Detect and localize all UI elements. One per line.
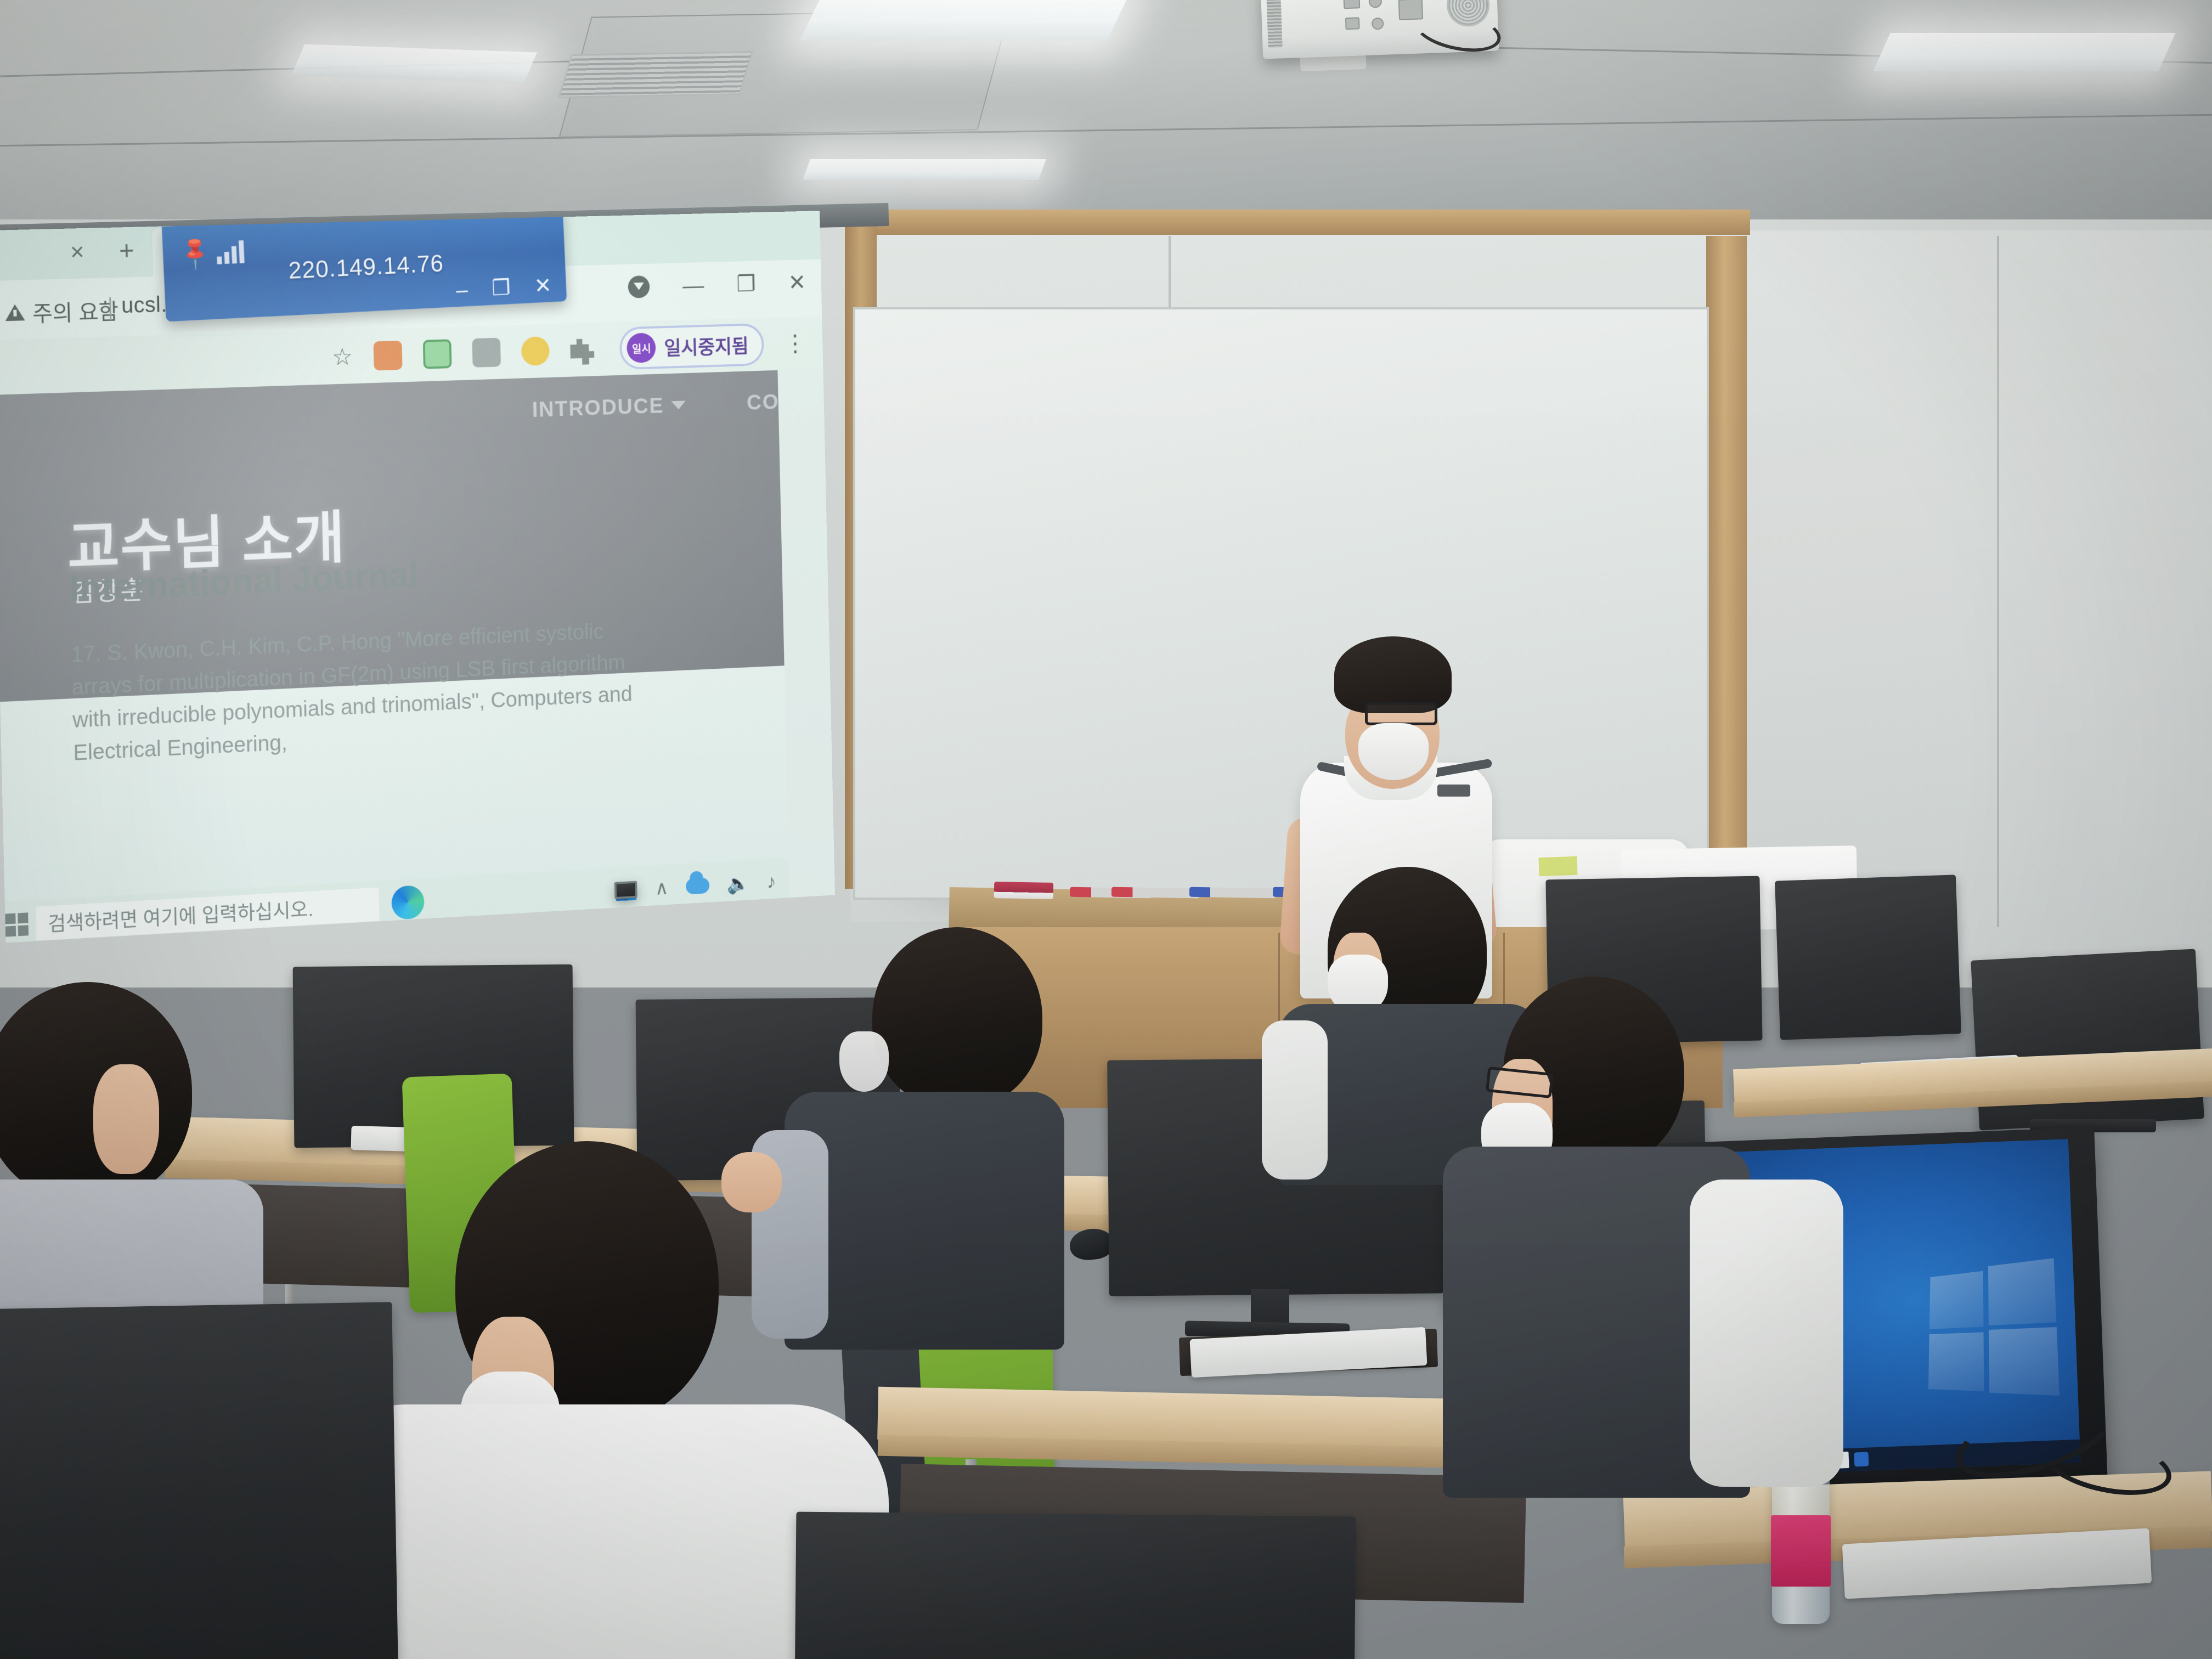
wall-seam — [1997, 236, 1999, 927]
student-head — [872, 927, 1042, 1108]
face-mask — [839, 1031, 889, 1092]
glasses-icon — [1365, 702, 1437, 725]
paused-status-badge[interactable]: 일시 일시중지됨 — [619, 323, 764, 370]
whiteboard — [853, 307, 1709, 900]
wood-trim — [845, 210, 1750, 235]
puzzle-extension-icon[interactable] — [570, 334, 600, 365]
show-hidden-icons-chevron[interactable]: ∧ — [655, 877, 669, 900]
projector-port — [1345, 17, 1360, 30]
new-tab-icon[interactable]: + — [119, 239, 135, 263]
network-monitor-icon[interactable] — [614, 881, 637, 899]
onedrive-cloud-icon[interactable] — [686, 877, 709, 894]
windows-logo-icon[interactable] — [5, 912, 29, 936]
projection-screen: INTRODUCE COURSE 교수님 소개 김창훈 Internationa… — [0, 211, 835, 943]
input-method-icon[interactable]: ♪ — [766, 871, 776, 893]
security-warning-label: 주의 요함 — [32, 294, 119, 328]
ceiling-light — [803, 159, 1046, 180]
browser-menu-icon[interactable]: ⋮ — [784, 330, 806, 357]
red-marker — [1111, 887, 1199, 899]
edge-browser-icon[interactable] — [1854, 1452, 1869, 1467]
warning-triangle-icon — [5, 304, 25, 321]
monitor-foreground-left — [0, 1302, 398, 1659]
windows-logo-wallpaper-icon — [1928, 1262, 2059, 1399]
remote-desktop-window-controls: – ❐ ✕ — [455, 273, 552, 303]
window-controls: — ❐ ✕ — [628, 269, 806, 300]
paused-status-label: 일시중지됨 — [664, 331, 749, 361]
nav-item-course[interactable]: COURSE — [747, 387, 789, 415]
ceiling-projector — [1261, 0, 1499, 59]
nav-item-label: INTRODUCE — [532, 394, 664, 422]
rdp-minimize-button[interactable]: – — [455, 278, 468, 302]
green-extension-icon[interactable] — [423, 339, 452, 369]
student-face — [93, 1064, 159, 1174]
monitor-foreground — [795, 1512, 1356, 1659]
volume-icon[interactable]: 🔈 — [726, 872, 750, 895]
grey-extension-icon[interactable] — [472, 338, 501, 368]
polo-logo — [1437, 785, 1470, 797]
projector-port — [1372, 18, 1384, 30]
projector-port — [1368, 0, 1382, 8]
projector-cable — [1410, 3, 1504, 59]
chevron-down-icon — [671, 400, 685, 409]
downloads-icon[interactable] — [628, 275, 650, 298]
face-mask — [1358, 723, 1429, 780]
presenter-hair — [1334, 636, 1452, 713]
ceiling-light — [1873, 33, 2175, 71]
ceiling-light — [800, 0, 1132, 41]
system-tray: 👥 ∧ 🔈 ♪ — [614, 870, 789, 902]
close-button[interactable]: ✕ — [788, 269, 806, 296]
student-shirt — [1262, 1020, 1328, 1180]
security-warning-badge[interactable]: 주의 요함 — [5, 294, 119, 329]
sticky-note — [1538, 856, 1577, 876]
student-white-shirt — [1690, 1180, 1843, 1487]
minimize-button[interactable]: — — [682, 272, 704, 298]
air-vent-icon — [558, 51, 753, 98]
orange-extension-icon[interactable] — [374, 341, 403, 371]
nav-item-label: COURSE — [747, 388, 789, 415]
projector-vent-icon — [1266, 0, 1283, 48]
bookmark-star-icon[interactable]: ☆ — [331, 343, 353, 371]
rdp-restore-button[interactable]: ❐ — [491, 275, 511, 301]
bottle-label — [1771, 1515, 1831, 1587]
monitor-back-2 — [1775, 874, 1961, 1040]
edge-browser-icon[interactable] — [391, 885, 425, 920]
classroom-photo-scene: INTRODUCE COURSE 교수님 소개 김창훈 Internationa… — [0, 0, 2212, 1659]
whiteboard-eraser — [994, 882, 1054, 899]
pause-badge-avatar: 일시 — [627, 332, 656, 363]
close-tab-icon[interactable]: × — [70, 240, 84, 264]
maximize-button[interactable]: ❐ — [736, 270, 756, 297]
yellow-extension-icon[interactable] — [521, 336, 550, 366]
blue-marker — [1189, 887, 1276, 899]
wood-column — [1706, 236, 1747, 927]
student-hand — [721, 1152, 782, 1212]
rdp-close-button[interactable]: ✕ — [534, 273, 552, 298]
nav-item-introduce[interactable]: INTRODUCE — [532, 393, 686, 422]
projector-port — [1343, 0, 1360, 9]
